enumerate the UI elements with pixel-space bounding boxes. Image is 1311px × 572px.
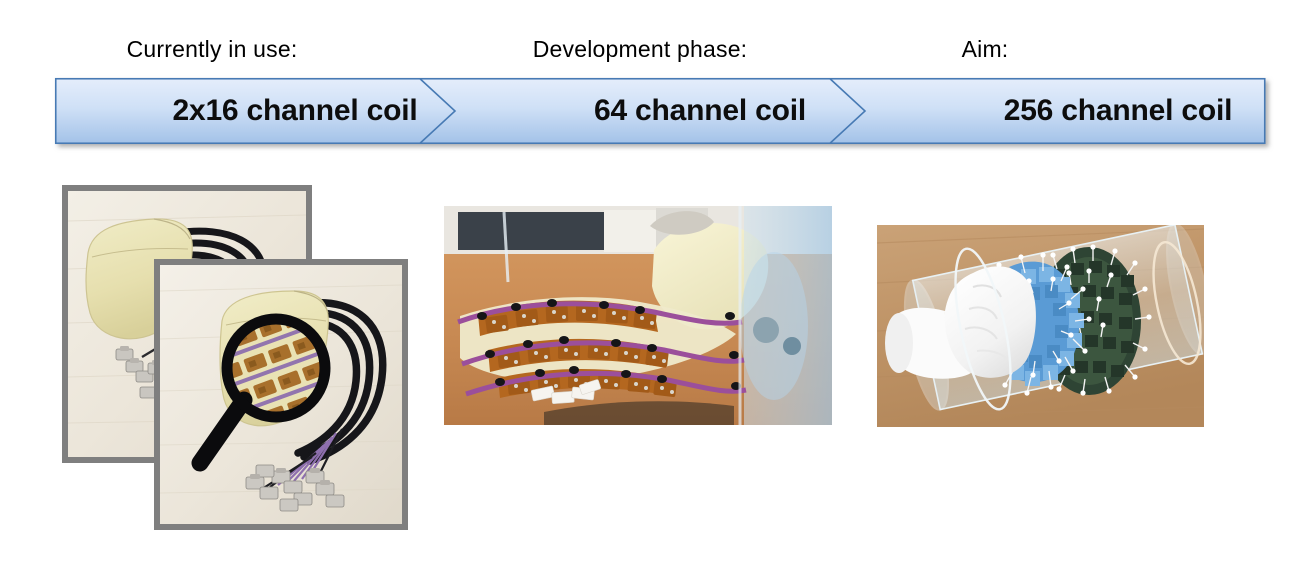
magnifier-lens-rim	[227, 319, 325, 417]
green-coil-array	[1024, 244, 1151, 395]
photo-256-channel-coil	[877, 225, 1204, 427]
magnified-coil-detail	[205, 303, 349, 435]
coil-pad-magnifier-graphic	[160, 265, 402, 524]
cylinder-far-rim	[1145, 238, 1204, 368]
connector-cluster	[116, 339, 184, 398]
acrylic-cylinder	[896, 225, 1204, 413]
256-channel-coil-graphic	[877, 225, 1204, 427]
pcb-rows	[458, 299, 746, 398]
stage-label-256-channel-coil[interactable]: 256 channel coil	[1004, 78, 1233, 144]
stage-caption-currently-in-use: Currently in use:	[127, 36, 298, 63]
photo-2x16-channel-coil-front-magnified	[154, 259, 408, 530]
cylinder-front-rim	[944, 244, 1021, 414]
blue-coil-array	[996, 252, 1091, 395]
64-channel-coil-graphic	[444, 206, 832, 425]
stage-caption-aim: Aim:	[962, 36, 1009, 63]
process-chevron-banner: 2x16 channel coil 64 channel coil 256 ch…	[55, 78, 1265, 144]
magnifier-handle	[200, 400, 244, 463]
photo-2x16-channel-coil-back	[62, 185, 312, 463]
connector-cluster-front	[246, 465, 344, 511]
stage-label-64-channel-coil[interactable]: 64 channel coil	[594, 78, 806, 144]
stage-caption-development-phase: Development phase:	[533, 36, 748, 63]
coil-pad-photo-graphic	[68, 191, 306, 457]
stage-label-2x16-channel-coil[interactable]: 2x16 channel coil	[172, 78, 417, 144]
mannequin-head	[885, 266, 1036, 378]
photo-64-channel-coil	[444, 206, 832, 425]
